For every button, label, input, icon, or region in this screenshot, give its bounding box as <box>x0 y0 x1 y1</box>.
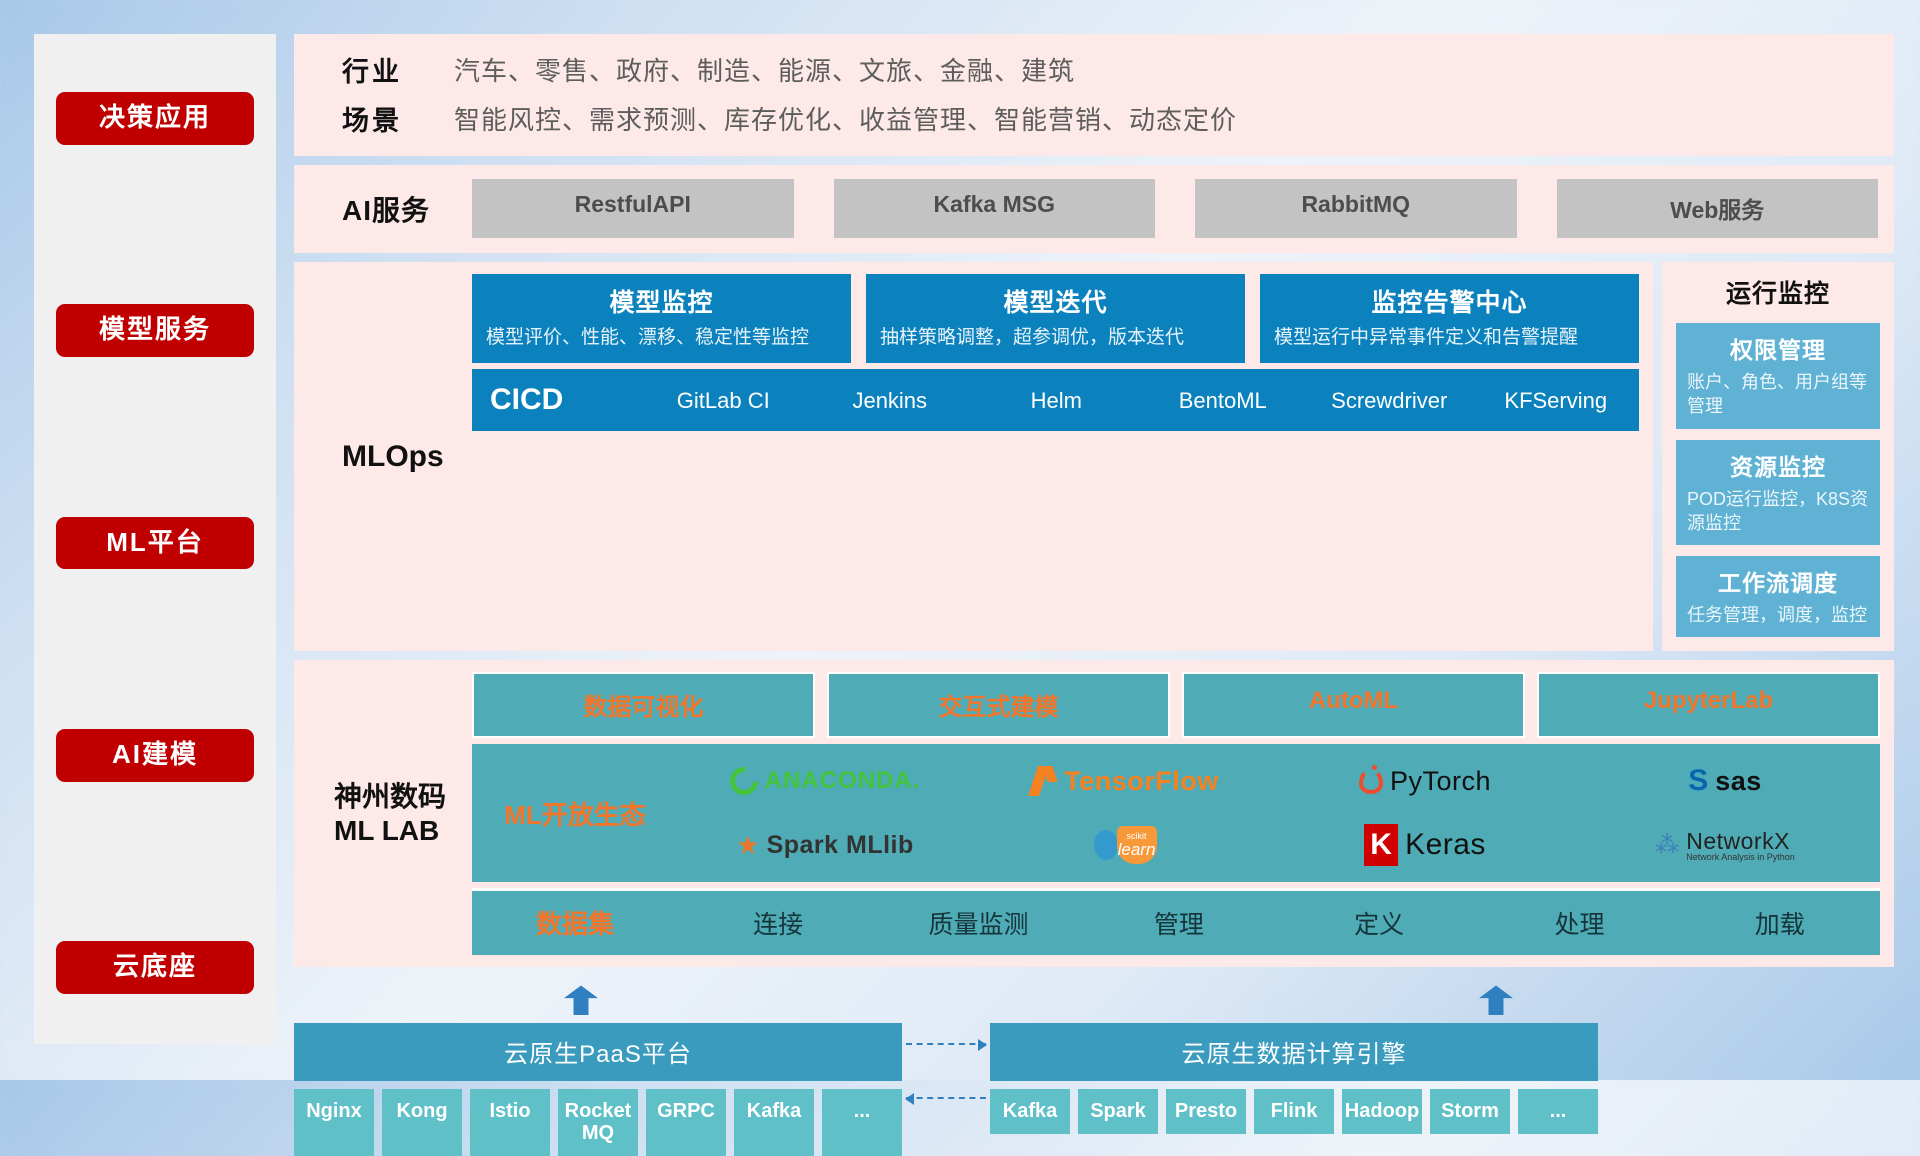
card-desc: POD运行监控，K8S资源监控 <box>1687 487 1869 536</box>
ml-lab-content: 数据可视化 交互式建模 AutoML JupyterLab ML开放生态 ANA… <box>472 672 1880 955</box>
industry-values: 汽车、零售、政府、制造、能源、文旅、金融、建筑 <box>454 51 1075 88</box>
anaconda-logo-text: ANACONDA. <box>765 767 921 795</box>
service-chip-kafka-msg[interactable]: Kafka MSG <box>834 179 1156 238</box>
dataset-item-management[interactable]: 管理 <box>1079 905 1279 941</box>
lab-tab-jupyterlab[interactable]: JupyterLab <box>1537 672 1880 738</box>
card-desc: 账户、角色、用户组等管理 <box>1687 370 1869 419</box>
mlops-card-model-iteration[interactable]: 模型迭代 抽样策略调整，超参调优，版本迭代 <box>866 274 1245 363</box>
pytorch-logo-text: PyTorch <box>1390 766 1491 797</box>
data-compute-engine-group: 云原生数据计算引擎 Kafka Spark Presto Flink Hadoo… <box>990 1023 1598 1134</box>
lab-tab-automl[interactable]: AutoML <box>1182 672 1525 738</box>
compute-chip-storm[interactable]: Storm <box>1430 1089 1510 1134</box>
arrow-head-left-icon <box>905 1093 914 1105</box>
card-desc: 抽样策略调整，超参调优，版本迭代 <box>880 325 1231 351</box>
dataset-item-connect[interactable]: 连接 <box>678 905 878 941</box>
dataset-item-track: 连接 质量监测 管理 定义 处理 加载 <box>678 905 1880 941</box>
cicd-title: CICD <box>490 383 640 417</box>
dataset-item-processing[interactable]: 处理 <box>1479 905 1679 941</box>
bidirectional-connector <box>902 1023 990 1156</box>
card-title: 权限管理 <box>1687 331 1869 365</box>
ml-open-ecosystem-label: ML开放生态 <box>472 750 678 876</box>
cicd-item-helm[interactable]: Helm <box>973 385 1140 415</box>
layer-rail: 决策应用 模型服务 ML平台 AI建模 云底座 <box>34 34 276 1044</box>
service-chip-rabbitmq[interactable]: RabbitMQ <box>1195 179 1517 238</box>
compute-chip-spark[interactable]: Spark <box>1078 1089 1158 1134</box>
service-chip-web-service[interactable]: Web服务 <box>1557 179 1879 238</box>
architecture-diagram: 决策应用 模型服务 ML平台 AI建模 云底座 行业 汽车、零售、政府、制造、能… <box>0 0 1920 1080</box>
ml-lab-tab-row: 数据可视化 交互式建模 AutoML JupyterLab <box>472 672 1880 738</box>
ml-lab-label-line2: ML LAB <box>334 814 472 848</box>
compute-chip-presto[interactable]: Presto <box>1166 1089 1246 1134</box>
card-title: 工作流调度 <box>1687 564 1869 598</box>
dashed-arrow-left <box>906 1097 986 1099</box>
spark-mllib-logo-text: Spark MLlib <box>767 831 914 860</box>
dataset-item-quality-monitoring[interactable]: 质量监测 <box>878 905 1078 941</box>
rail-item-decision-apps[interactable]: 决策应用 <box>56 92 254 145</box>
compute-chip-more[interactable]: ... <box>1518 1089 1598 1134</box>
rail-item-model-service[interactable]: 模型服务 <box>56 304 254 357</box>
card-title: 资源监控 <box>1687 448 1869 482</box>
card-desc: 模型运行中异常事件定义和告警提醒 <box>1274 325 1625 351</box>
card-title: 模型监控 <box>486 283 837 319</box>
spark-star-icon: ★ <box>736 830 759 861</box>
card-desc: 任务管理，调度，监控 <box>1687 603 1869 627</box>
scenario-label: 场景 <box>316 99 428 138</box>
paas-chip-rocketmq[interactable]: RocketMQ <box>558 1089 638 1156</box>
rail-gap-2 <box>34 357 276 517</box>
compute-chip-hadoop[interactable]: Hadoop <box>1342 1089 1422 1134</box>
main-column: 行业 汽车、零售、政府、制造、能源、文旅、金融、建筑 场景 智能风控、需求预测、… <box>294 34 1894 1044</box>
rail-item-ai-modeling[interactable]: AI建模 <box>56 729 254 782</box>
tensorflow-mark-icon <box>1031 766 1057 796</box>
networkx-logo-text: NetworkX <box>1686 829 1795 853</box>
cicd-bar: CICD GitLab CI Jenkins Helm BentoML Scre… <box>472 369 1639 431</box>
cicd-item-screwdriver[interactable]: Screwdriver <box>1306 385 1473 415</box>
scikit-learn-logo-text: learn <box>1118 841 1156 858</box>
industry-line: 行业 汽车、零售、政府、制造、能源、文旅、金融、建筑 <box>316 50 1880 89</box>
scenario-line: 场景 智能风控、需求预测、库存优化、收益管理、智能营销、动态定价 <box>316 99 1880 138</box>
mlops-content: 模型监控 模型评价、性能、漂移、稳定性等监控 模型迭代 抽样策略调整，超参调优，… <box>472 274 1639 639</box>
tensorflow-logo: TensorFlow <box>1031 766 1219 797</box>
runtime-monitoring-title: 运行监控 <box>1676 274 1880 310</box>
card-title: 监控告警中心 <box>1274 283 1625 319</box>
monitor-card-permission[interactable]: 权限管理 账户、角色、用户组等管理 <box>1676 323 1880 429</box>
mlops-card-model-monitoring[interactable]: 模型监控 模型评价、性能、漂移、稳定性等监控 <box>472 274 851 363</box>
lab-tab-data-visualization[interactable]: 数据可视化 <box>472 672 815 738</box>
industry-label: 行业 <box>316 50 428 89</box>
cicd-item-track: GitLab CI Jenkins Helm BentoML Screwdriv… <box>640 385 1639 415</box>
cloud-foundation-zone: 云原生PaaS平台 Nginx Kong Istio RocketMQ GRPC… <box>294 985 1894 1156</box>
service-chip-restfulapi[interactable]: RestfulAPI <box>472 179 794 238</box>
keras-logo-text: Keras <box>1405 828 1486 862</box>
mlops-label: MLOps <box>316 274 472 639</box>
cicd-item-jenkins[interactable]: Jenkins <box>807 385 974 415</box>
paas-chip-track: Nginx Kong Istio RocketMQ GRPC Kafka ... <box>294 1089 902 1156</box>
rail-item-ml-platform[interactable]: ML平台 <box>56 517 254 570</box>
rail-gap-3 <box>34 569 276 729</box>
paas-chip-more[interactable]: ... <box>822 1089 902 1156</box>
keras-logo: K Keras <box>1364 824 1486 866</box>
compute-chip-track: Kafka Spark Presto Flink Hadoop Storm ..… <box>990 1089 1598 1134</box>
mlops-card-row: 模型监控 模型评价、性能、漂移、稳定性等监控 模型迭代 抽样策略调整，超参调优，… <box>472 274 1639 363</box>
upward-arrow-row <box>294 985 1894 1015</box>
sas-logo-text: sas <box>1715 766 1762 797</box>
monitor-card-workflow[interactable]: 工作流调度 任务管理，调度，监控 <box>1676 556 1880 637</box>
data-compute-engine-bar: 云原生数据计算引擎 <box>990 1023 1598 1081</box>
dataset-row: 数据集 连接 质量监测 管理 定义 处理 加载 <box>472 888 1880 955</box>
ai-service-band: AI服务 RestfulAPI Kafka MSG RabbitMQ Web服务 <box>294 165 1894 253</box>
rail-gap-4 <box>34 782 276 942</box>
cloud-row: 云原生PaaS平台 Nginx Kong Istio RocketMQ GRPC… <box>294 1023 1894 1156</box>
arrow-up-icon-right <box>1479 985 1513 1015</box>
dataset-item-loading[interactable]: 加载 <box>1680 905 1880 941</box>
ml-lab-band: 神州数码 ML LAB 数据可视化 交互式建模 AutoML JupyterLa… <box>294 660 1894 967</box>
compute-chip-kafka[interactable]: Kafka <box>990 1089 1070 1134</box>
paas-chip-istio[interactable]: Istio <box>470 1089 550 1156</box>
paas-platform-group: 云原生PaaS平台 Nginx Kong Istio RocketMQ GRPC… <box>294 1023 902 1156</box>
tensorflow-logo-text: TensorFlow <box>1064 766 1219 797</box>
mlops-zone: MLOps 模型监控 模型评价、性能、漂移、稳定性等监控 模型迭代 抽样策略调整… <box>294 262 1894 651</box>
monitor-card-resource[interactable]: 资源监控 POD运行监控，K8S资源监控 <box>1676 440 1880 546</box>
spark-mllib-logo: ★ Spark MLlib <box>736 830 914 861</box>
rail-item-cloud-base[interactable]: 云底座 <box>56 941 254 994</box>
runtime-monitoring-column: 运行监控 权限管理 账户、角色、用户组等管理 资源监控 POD运行监控，K8S资… <box>1662 262 1894 651</box>
keras-k-icon: K <box>1364 824 1398 866</box>
pytorch-flame-icon <box>1359 768 1383 794</box>
arrow-head-right-icon <box>978 1039 987 1051</box>
paas-chip-kafka[interactable]: Kafka <box>734 1089 814 1156</box>
lab-tab-interactive-modeling[interactable]: 交互式建模 <box>827 672 1170 738</box>
anaconda-ring-icon <box>724 762 763 801</box>
scikit-learn-logo: scikit learn <box>1094 826 1157 864</box>
arrow-up-icon-left <box>564 985 598 1015</box>
dataset-item-definition[interactable]: 定义 <box>1279 905 1479 941</box>
paas-chip-nginx[interactable]: Nginx <box>294 1089 374 1156</box>
cicd-item-bentoml[interactable]: BentoML <box>1140 385 1307 415</box>
ai-service-label: AI服务 <box>316 189 472 229</box>
ml-lab-label: 神州数码 ML LAB <box>316 672 472 955</box>
scenario-values: 智能风控、需求预测、库存优化、收益管理、智能营销、动态定价 <box>454 100 1237 137</box>
sas-logo: S sas <box>1688 764 1762 798</box>
card-desc: 模型评价、性能、漂移、稳定性等监控 <box>486 325 837 351</box>
paas-platform-bar: 云原生PaaS平台 <box>294 1023 902 1081</box>
cicd-item-gitlab-ci[interactable]: GitLab CI <box>640 385 807 415</box>
dashed-arrow-right <box>906 1043 986 1045</box>
cicd-item-kfserving[interactable]: KFServing <box>1473 385 1640 415</box>
ml-open-ecosystem-panel: ML开放生态 ANACONDA. TensorFlow PyTorc <box>472 744 1880 882</box>
anaconda-logo: ANACONDA. <box>730 767 921 795</box>
compute-chip-flink[interactable]: Flink <box>1254 1089 1334 1134</box>
paas-chip-grpc[interactable]: GRPC <box>646 1089 726 1156</box>
sas-swirl-icon: S <box>1688 764 1708 798</box>
mlops-card-alert-center[interactable]: 监控告警中心 模型运行中异常事件定义和告警提醒 <box>1260 274 1639 363</box>
networkx-logo: ⁂ NetworkX Network Analysis in Python <box>1655 829 1795 863</box>
scikit-orange-blob-icon: scikit learn <box>1117 826 1157 864</box>
card-title: 模型迭代 <box>880 283 1231 319</box>
pytorch-logo: PyTorch <box>1359 766 1491 797</box>
dataset-label: 数据集 <box>472 904 678 941</box>
ecosystem-logo-grid: ANACONDA. TensorFlow PyTorch S sa <box>678 750 1872 876</box>
paas-chip-kong[interactable]: Kong <box>382 1089 462 1156</box>
ai-service-chip-track: RestfulAPI Kafka MSG RabbitMQ Web服务 <box>472 179 1878 238</box>
decision-apps-band: 行业 汽车、零售、政府、制造、能源、文旅、金融、建筑 场景 智能风控、需求预测、… <box>294 34 1894 156</box>
networkx-tagline: Network Analysis in Python <box>1686 853 1795 862</box>
networkx-graph-icon: ⁂ <box>1655 831 1679 860</box>
rail-gap-1 <box>34 145 276 305</box>
mlops-band: MLOps 模型监控 模型评价、性能、漂移、稳定性等监控 模型迭代 抽样策略调整… <box>294 262 1653 651</box>
ml-lab-label-line1: 神州数码 <box>334 780 472 814</box>
scikit-blue-blob-icon <box>1094 830 1118 860</box>
